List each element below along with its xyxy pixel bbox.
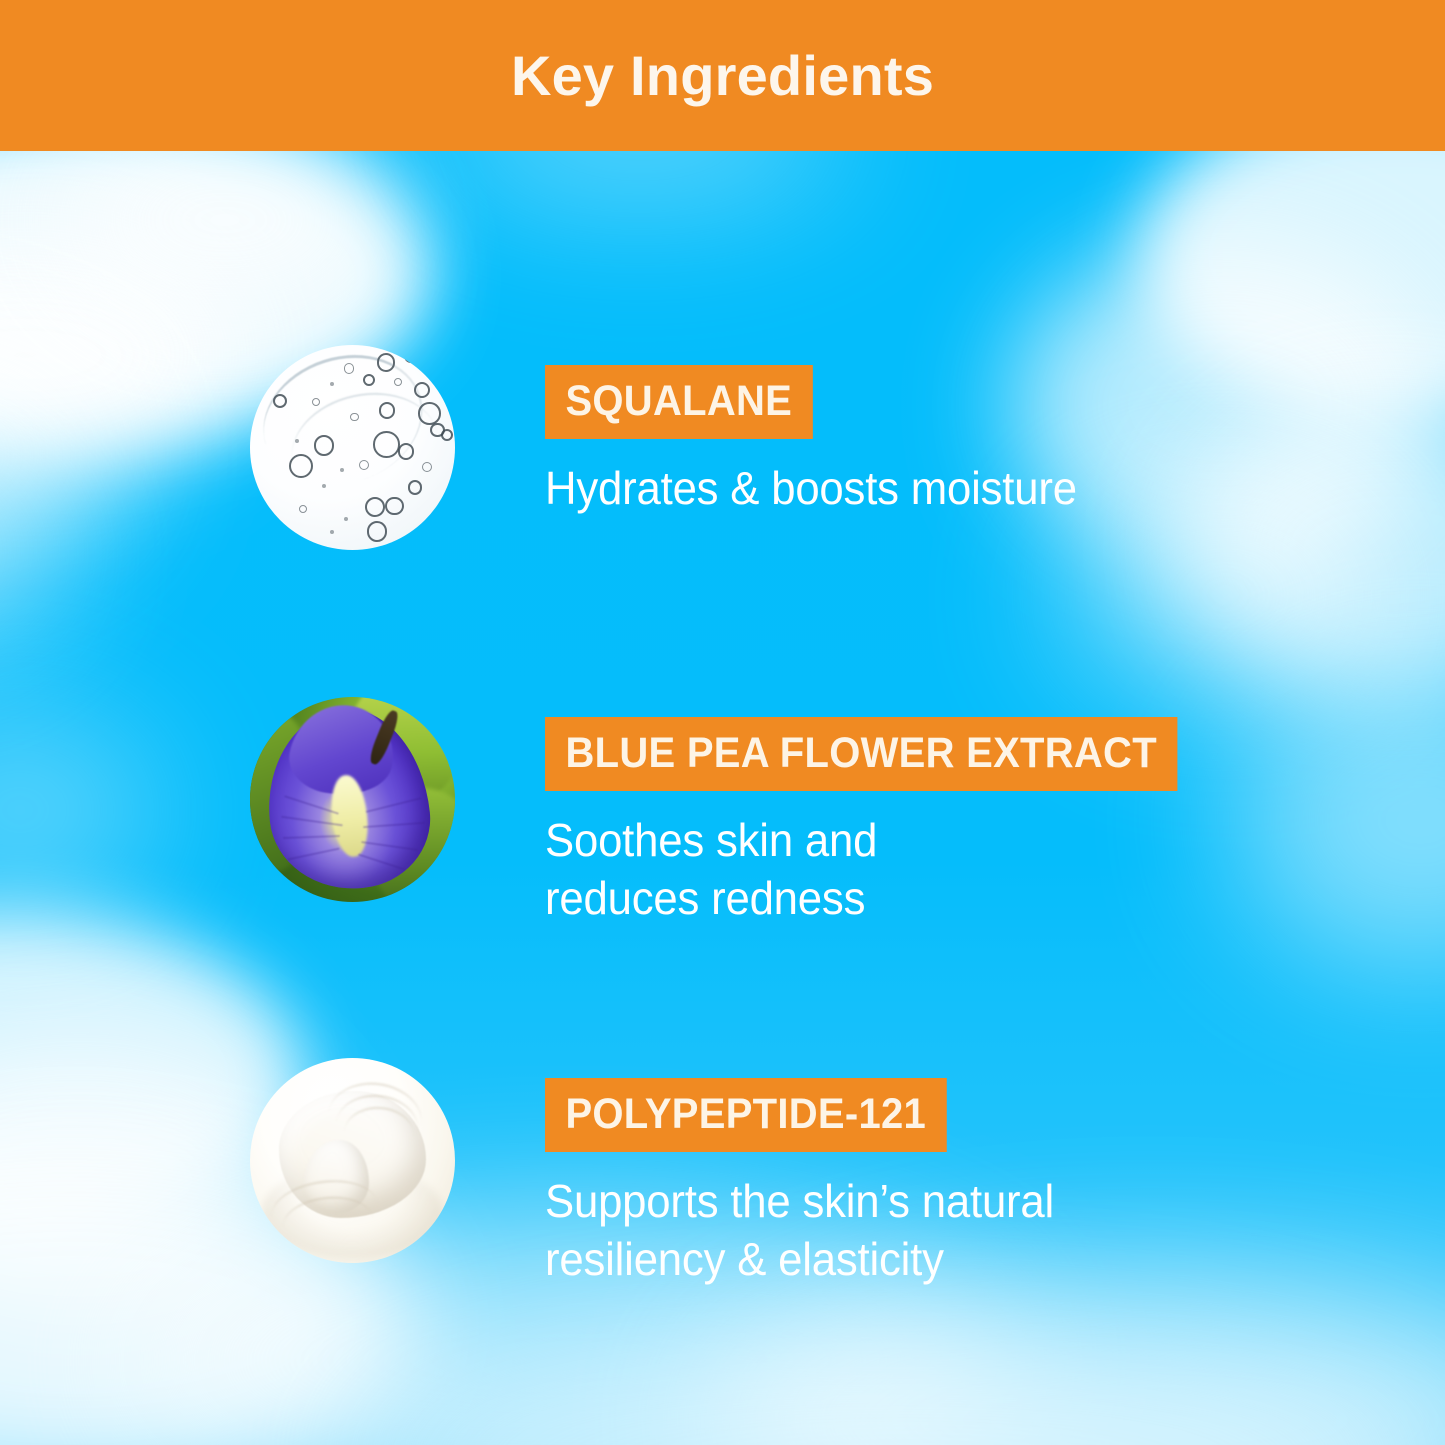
ingredient-text-column: POLYPEPTIDE-121 Supports the skin’s natu… bbox=[545, 1058, 1081, 1288]
bubble-shape bbox=[363, 374, 375, 386]
bubble-shape bbox=[344, 517, 348, 521]
bubble-shape bbox=[350, 413, 358, 421]
ingredient-text-column: SQUALANE Hydrates & boosts moisture bbox=[545, 345, 1105, 517]
flower-photo bbox=[250, 697, 455, 902]
bubble-shape bbox=[385, 497, 403, 515]
bubble-shape bbox=[394, 378, 402, 386]
ingredient-description-blue-pea-flower-extract: Soothes skin and reduces redness bbox=[545, 811, 1191, 927]
bubble-shape bbox=[398, 443, 414, 459]
bubble-shape bbox=[367, 521, 387, 541]
ingredient-name-badge-blue-pea-flower-extract: BLUE PEA FLOWER EXTRACT bbox=[545, 717, 1177, 791]
bubble-shape bbox=[377, 353, 395, 371]
bubble-shape bbox=[330, 382, 334, 386]
bubble-shape bbox=[422, 462, 432, 472]
bubble-shape bbox=[404, 349, 418, 363]
bubble-shape bbox=[359, 460, 369, 470]
ingredient-description-polypeptide-121: Supports the skin’s natural resiliency &… bbox=[545, 1172, 1054, 1288]
page-title: Key Ingredients bbox=[511, 48, 934, 104]
gel-texture bbox=[250, 345, 455, 550]
ingredient-description-squalane: Hydrates & boosts moisture bbox=[545, 459, 1077, 517]
bubble-shape bbox=[365, 497, 385, 517]
bubble-shape bbox=[408, 480, 422, 494]
key-ingredients-infographic: Key Ingredients bbox=[0, 0, 1445, 1445]
ingredient-row-squalane: SQUALANE Hydrates & boosts moisture bbox=[0, 345, 1105, 550]
cream-swirl-icon bbox=[250, 1058, 455, 1263]
ingredient-text-column: BLUE PEA FLOWER EXTRACT Soothes skin and… bbox=[545, 697, 1225, 927]
ingredient-name-badge-polypeptide-121: POLYPEPTIDE-121 bbox=[545, 1078, 946, 1152]
bubble-shape bbox=[373, 431, 400, 458]
squalane-gel-icon bbox=[250, 345, 455, 550]
bubble-shape bbox=[314, 435, 334, 455]
header-banner: Key Ingredients bbox=[0, 0, 1445, 151]
ingredient-thumb-wrap bbox=[250, 697, 455, 902]
ingredient-thumb-wrap bbox=[250, 1058, 455, 1263]
bubble-shape bbox=[441, 429, 453, 441]
cream-texture bbox=[250, 1058, 455, 1263]
bubble-shape bbox=[414, 382, 430, 398]
blue-pea-flower-icon bbox=[250, 697, 455, 902]
bubble-shape bbox=[379, 402, 395, 418]
ingredient-row-blue-pea-flower-extract: BLUE PEA FLOWER EXTRACT Soothes skin and… bbox=[0, 697, 1225, 927]
bubble-shape bbox=[418, 402, 440, 424]
ingredient-row-polypeptide-121: POLYPEPTIDE-121 Supports the skin’s natu… bbox=[0, 1058, 1081, 1288]
bubble-shape bbox=[299, 505, 307, 513]
ingredient-list: SQUALANE Hydrates & boosts moisture bbox=[0, 0, 1445, 1445]
ingredient-thumb-wrap bbox=[250, 345, 455, 550]
bubble-shape bbox=[330, 530, 334, 534]
ingredient-name-badge-squalane: SQUALANE bbox=[545, 365, 813, 439]
